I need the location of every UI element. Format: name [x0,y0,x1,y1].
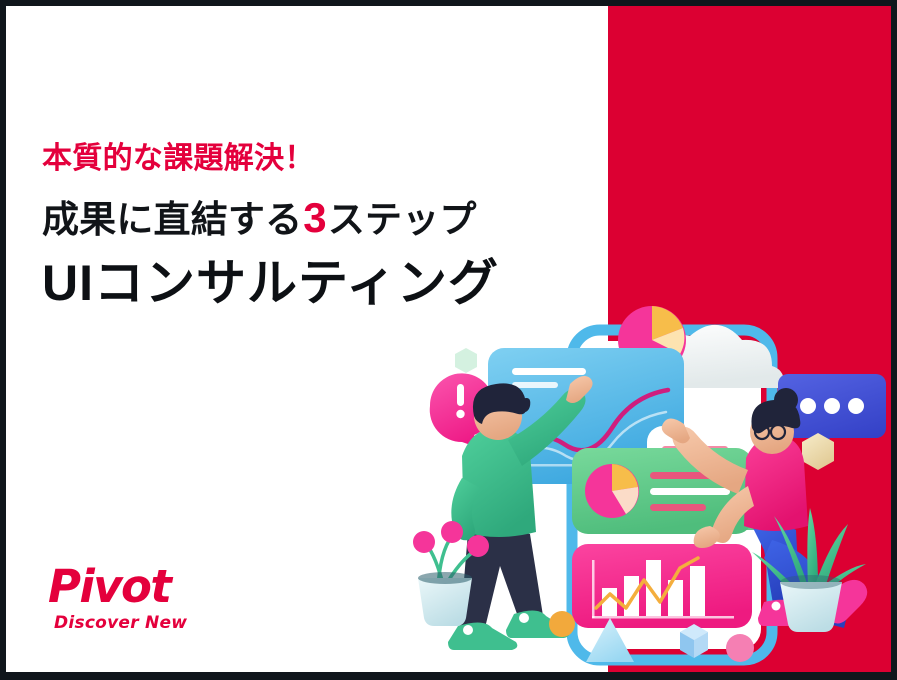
pivot-logo: Pivot Discover New [48,564,187,632]
slide-canvas: 本質的な課題解決！ 成果に直結する3ステップ UIコンサルティング Pivot … [0,0,897,680]
subline-text-after: ステップ [328,199,477,240]
logo-wordmark: Pivot [48,564,187,609]
headline-kicker: 本質的な課題解決！ [42,140,582,178]
orange-sphere [549,611,575,637]
subline-step-number: 3 [302,194,328,241]
team-analytics-illustration [400,288,892,672]
pink-sphere [726,634,754,662]
pink-bar-chart-card [572,544,752,628]
headline-mainline: UIコンサルティング [42,253,582,313]
slide-frame-bottom [0,672,897,680]
logo-tagline: Discover New [54,615,187,632]
slide-frame-left [0,0,6,680]
mint-hexagon [455,348,477,373]
subline-text-before: 成果に直結する [42,199,302,240]
headline-subline: 成果に直結する3ステップ [42,192,582,243]
headline-block: 本質的な課題解決！ 成果に直結する3ステップ UIコンサルティング [42,140,582,313]
